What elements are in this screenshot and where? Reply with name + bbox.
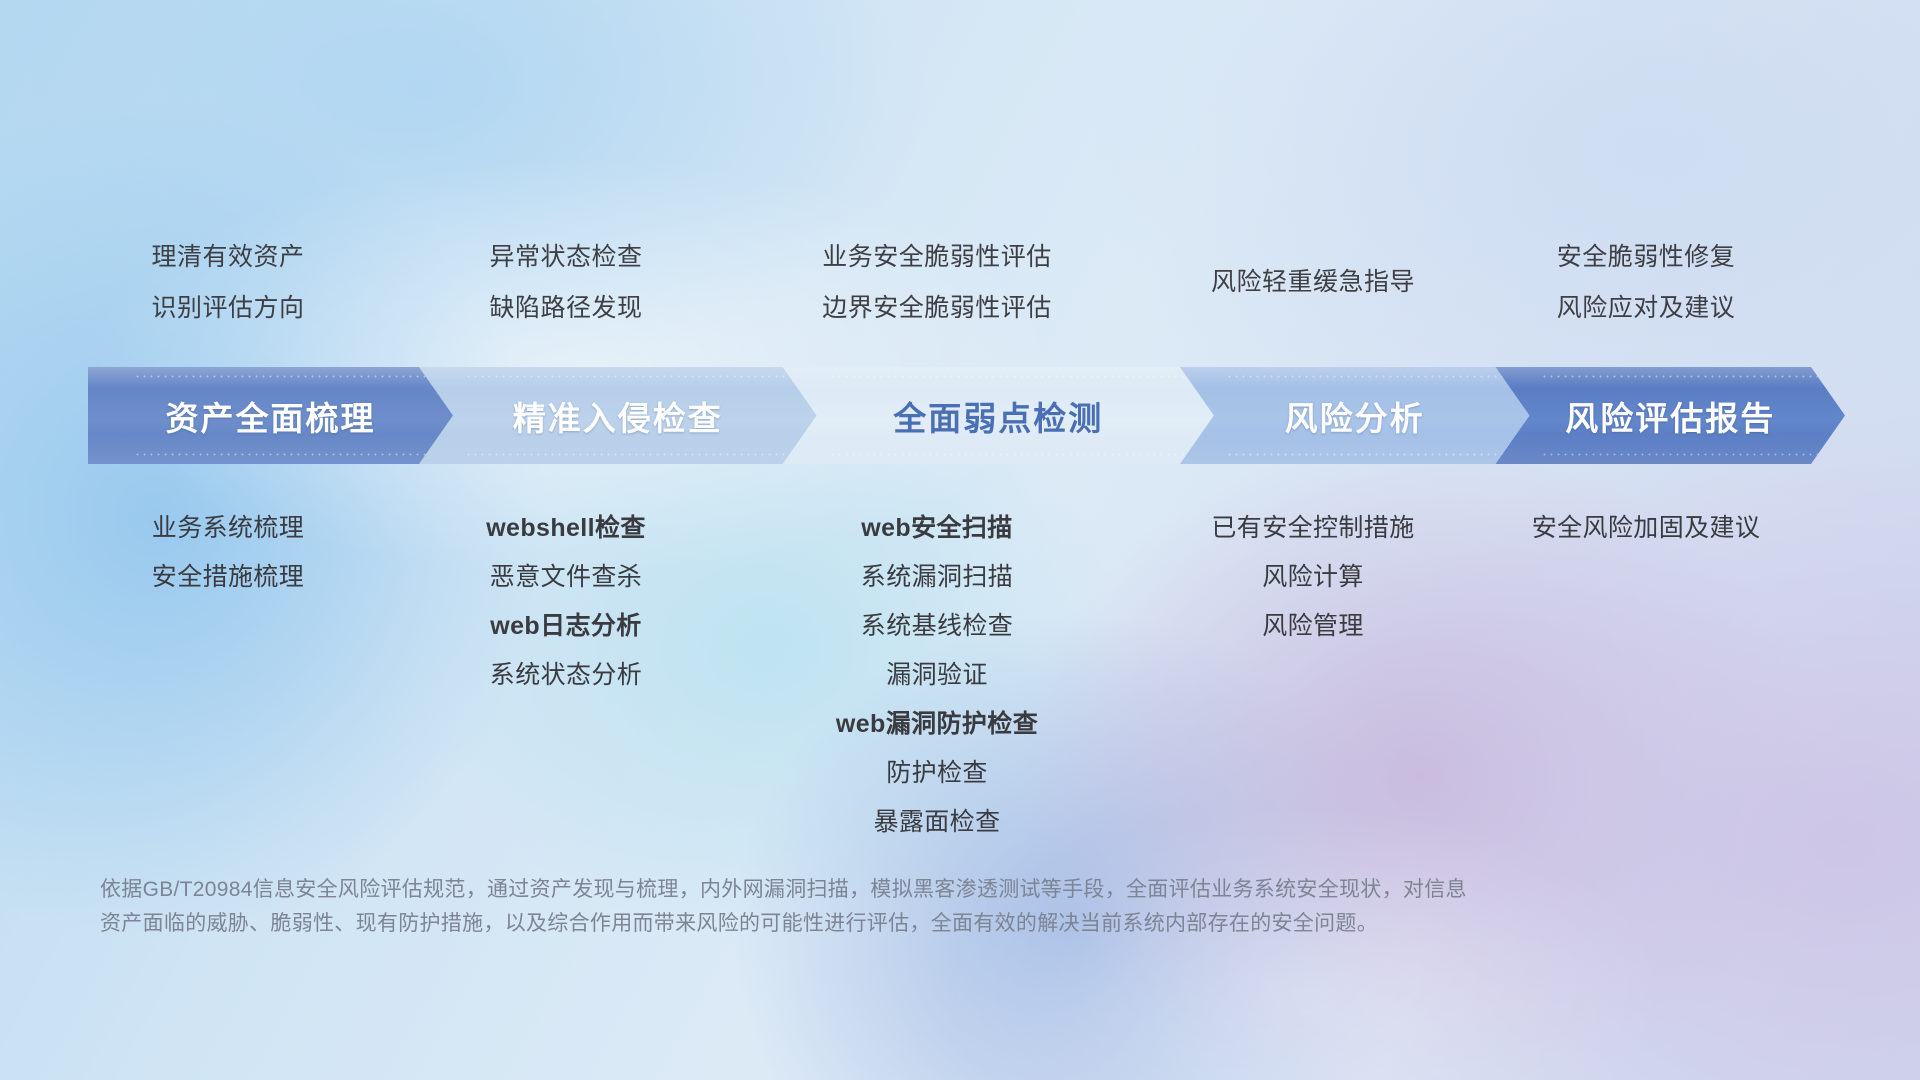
bottom-column-asset-inventory: 业务系统梳理安全措施梳理 (38, 504, 418, 602)
bottom-item: 风险计算 (1123, 553, 1503, 602)
chevron-asset-inventory[interactable]: 资产全面梳理 (88, 367, 453, 464)
top-item-text: 业务安全脆弱性评估 (747, 232, 1127, 283)
bottom-item: webshell检查 (376, 504, 756, 553)
top-item-intrusion-check-1: 异常状态检查 (376, 232, 756, 283)
bottom-item: 暴露面检查 (747, 798, 1127, 847)
chevron-risk-report[interactable]: 风险评估报告 (1495, 367, 1845, 464)
bottom-item: 防护检查 (747, 749, 1127, 798)
chevron-dot-texture-bottom (134, 452, 435, 457)
top-item-risk-report-2: 风险应对及建议 (1456, 283, 1836, 334)
chevron-dot-texture-bottom (1226, 452, 1512, 457)
bottom-column-risk-report: 安全风险加固及建议 (1456, 504, 1836, 553)
top-item-asset-inventory-2: 识别评估方向 (38, 283, 418, 334)
chevron-dot-texture-top (134, 374, 435, 379)
bottom-item: 漏洞验证 (747, 651, 1127, 700)
process-chevron-banner: 资产全面梳理精准入侵检查全面弱点检测风险分析风险评估报告 (88, 367, 1845, 464)
bottom-item: 风险管理 (1123, 602, 1503, 651)
chevron-label: 全面弱点检测 (893, 392, 1103, 440)
top-item-asset-inventory-1: 理清有效资产 (38, 232, 418, 283)
chevron-risk-analysis[interactable]: 风险分析 (1180, 367, 1530, 464)
top-item-text: 异常状态检查 (376, 232, 756, 283)
bottom-item: 安全风险加固及建议 (1456, 504, 1836, 553)
bottom-item: web日志分析 (376, 602, 756, 651)
bottom-item: 恶意文件查杀 (376, 553, 756, 602)
chevron-dot-texture-top (1541, 374, 1827, 379)
chevron-label: 精准入侵检查 (513, 392, 723, 440)
top-item-text: 风险应对及建议 (1456, 283, 1836, 334)
chevron-dot-texture-bottom (829, 452, 1196, 457)
chevron-dot-texture-top (465, 374, 799, 379)
bottom-item: web安全扫描 (747, 504, 1127, 553)
chevron-label: 风险分析 (1285, 392, 1425, 440)
chevron-dot-texture-bottom (1541, 452, 1827, 457)
chevron-dot-texture-top (1226, 374, 1512, 379)
bottom-item: 安全措施梳理 (38, 553, 418, 602)
risk-assessment-process-infographic: 理清有效资产异常状态检查业务安全脆弱性评估风险轻重缓急指导安全脆弱性修复 识别评… (0, 0, 1920, 1080)
top-item-text: 安全脆弱性修复 (1456, 232, 1836, 283)
chevron-label: 风险评估报告 (1565, 392, 1775, 440)
top-item-text: 风险轻重缓急指导 (1123, 257, 1503, 308)
top-item-text: 边界安全脆弱性评估 (747, 283, 1127, 334)
top-item-risk-report-1: 安全脆弱性修复 (1456, 232, 1836, 283)
footer-line-1: 依据GB/T20984信息安全风险评估规范，通过资产发现与梳理，内外网漏洞扫描，… (100, 873, 1640, 907)
top-item-risk-analysis: 风险轻重缓急指导 (1123, 257, 1503, 308)
bottom-column-risk-analysis: 已有安全控制措施风险计算风险管理 (1123, 504, 1503, 651)
bottom-item: 业务系统梳理 (38, 504, 418, 553)
bottom-item: web漏洞防护检查 (747, 700, 1127, 749)
footer-line-2: 资产面临的威胁、脆弱性、现有防护措施，以及综合作用而带来风险的可能性进行评估，全… (100, 907, 1640, 941)
top-item-weakness-detection-1: 业务安全脆弱性评估 (747, 232, 1127, 283)
top-item-text: 缺陷路径发现 (376, 283, 756, 334)
chevron-intrusion-check[interactable]: 精准入侵检查 (419, 367, 817, 464)
bottom-item: 系统基线检查 (747, 602, 1127, 651)
bottom-item: 已有安全控制措施 (1123, 504, 1503, 553)
chevron-dot-texture-top (829, 374, 1196, 379)
bottom-item: 系统状态分析 (376, 651, 756, 700)
chevron-label: 资产全面梳理 (165, 392, 375, 440)
chevron-weakness-detection[interactable]: 全面弱点检测 (783, 367, 1214, 464)
bottom-column-intrusion-check: webshell检查恶意文件查杀web日志分析系统状态分析 (376, 504, 756, 700)
footer-description: 依据GB/T20984信息安全风险评估规范，通过资产发现与梳理，内外网漏洞扫描，… (100, 873, 1640, 941)
chevron-dot-texture-bottom (465, 452, 799, 457)
top-item-weakness-detection-2: 边界安全脆弱性评估 (747, 283, 1127, 334)
bottom-column-weakness-detection: web安全扫描系统漏洞扫描系统基线检查漏洞验证web漏洞防护检查防护检查暴露面检… (747, 504, 1127, 847)
top-item-intrusion-check-2: 缺陷路径发现 (376, 283, 756, 334)
bottom-item: 系统漏洞扫描 (747, 553, 1127, 602)
top-item-text: 识别评估方向 (38, 283, 418, 334)
top-item-text: 理清有效资产 (38, 232, 418, 283)
